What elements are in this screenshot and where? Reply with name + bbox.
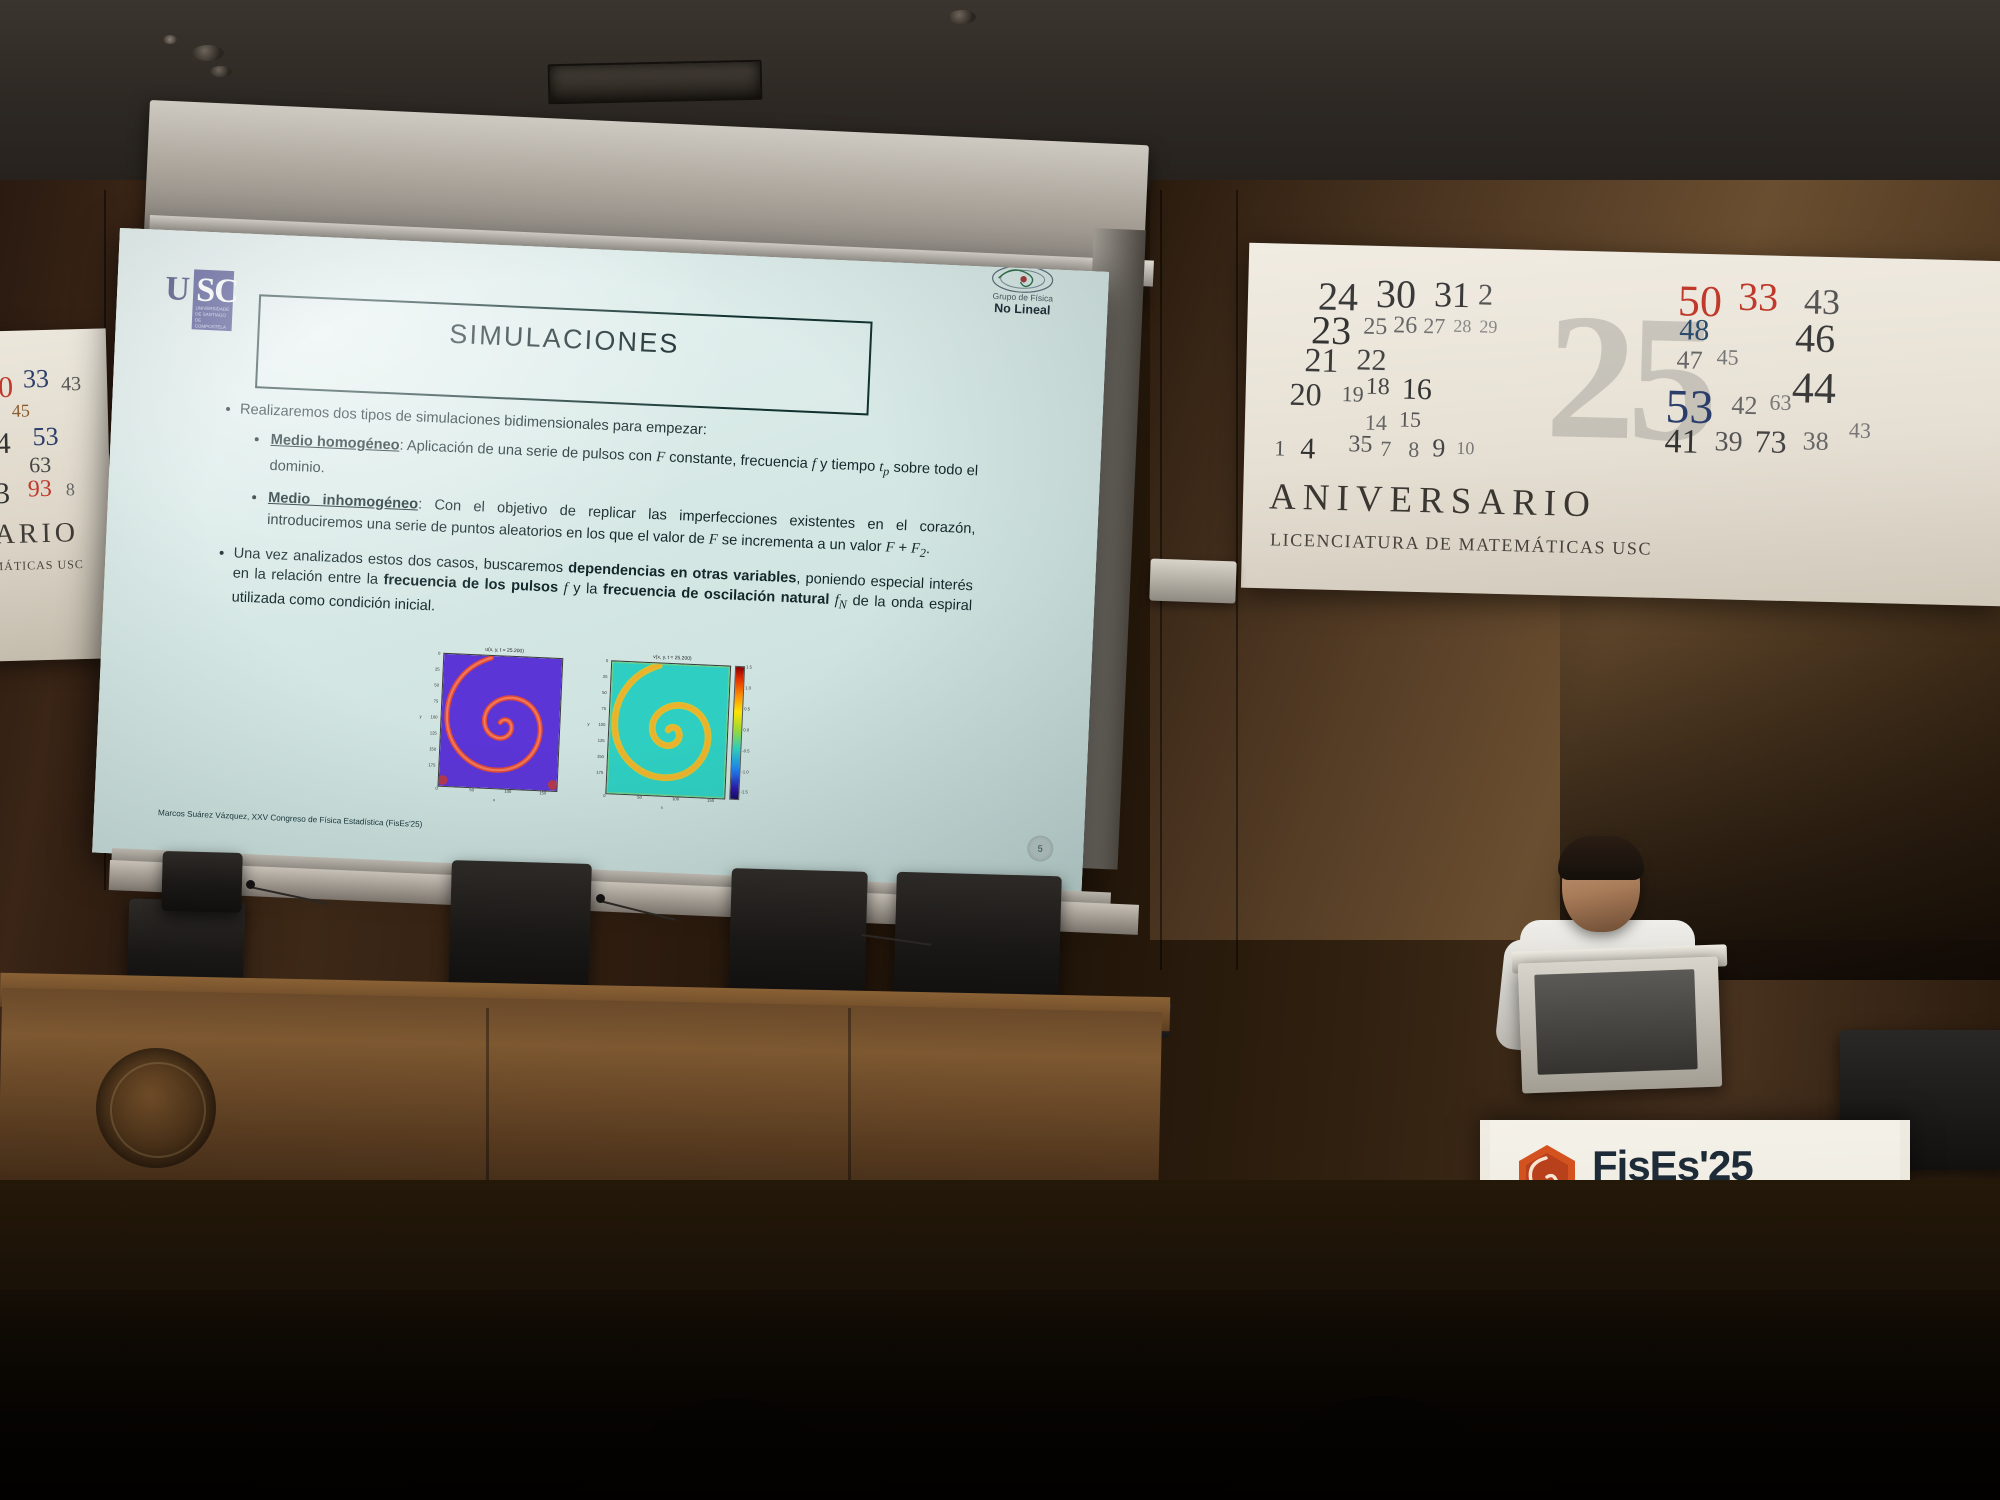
poster-number: 45	[1716, 344, 1739, 371]
poster-number: 27	[1423, 313, 1446, 340]
poster-number: 28	[1453, 316, 1472, 337]
poster-number: 8	[1408, 437, 1420, 463]
poster-number: 2	[1478, 278, 1494, 312]
figure-pair: u(x, y, t = 25.200) 0 25 50 75 100 125 1…	[415, 644, 772, 817]
poster-number: 33	[23, 364, 50, 395]
poster-number: 33	[1738, 273, 1779, 321]
y-tick: 0	[438, 651, 441, 656]
slide-page-number: 5	[1027, 835, 1054, 862]
poster-number: 63	[1769, 390, 1792, 417]
y-tick: 125	[430, 730, 437, 735]
x-axis-label: x	[493, 797, 495, 802]
colorbar-tick: 1.0	[745, 685, 751, 690]
conference-room-photo: 50 33 43 48 45 44 53 41 63 43 93 8 SARIO…	[0, 0, 2000, 1500]
poster-number: 8	[66, 479, 76, 500]
chair-back	[161, 851, 243, 913]
slide-title: SIMULACIONES	[259, 310, 870, 368]
chair	[728, 868, 868, 1004]
figure-spiral-v: v(x, y, t = 25.200) 0 25 50 75 100 125 1…	[583, 651, 740, 816]
poster-heading: ANIVERSARIO	[1269, 475, 1990, 536]
grupo-fisica-no-lineal-logo: Grupo de Física No Lineal	[963, 262, 1084, 329]
poster-number: 41	[1664, 423, 1699, 462]
y-tick: 175	[428, 762, 435, 767]
poster-number: 35	[1348, 431, 1373, 459]
poster-number: 93	[28, 476, 53, 504]
poster-number: 47	[1676, 345, 1703, 376]
y-tick: 25	[435, 666, 440, 671]
speaker-hair	[1558, 836, 1644, 880]
wall-mounted-projector	[1149, 559, 1236, 604]
x-tick: 50	[469, 787, 474, 792]
slide-body: Realizaremos dos tipos de simulaciones b…	[211, 399, 980, 648]
poster-number: 29	[1479, 316, 1498, 337]
usc-logo: U SC UNIVERSIDADE DE SANTIAGO DE COMPOST…	[164, 268, 235, 331]
foreground-shadow	[0, 1290, 2000, 1500]
slide-title-box: SIMULACIONES	[255, 294, 873, 415]
poster-number: 10	[1456, 438, 1475, 459]
poster-number: 7	[1380, 436, 1392, 462]
poster-number: 19	[1341, 381, 1364, 408]
poster-number: 48	[1679, 313, 1710, 348]
lectern-monitor	[1534, 969, 1697, 1075]
y-tick: 0	[606, 658, 609, 663]
poster-number: 16	[1401, 373, 1432, 408]
y-axis-label: y	[419, 714, 421, 719]
poster-number: 30	[1376, 270, 1417, 318]
x-tick: 150	[707, 798, 714, 803]
spiral-wave-plot	[439, 654, 563, 791]
ceiling-vent	[548, 60, 763, 104]
x-tick: 0	[435, 786, 438, 791]
poster-number: 73	[1754, 423, 1787, 461]
colorbar	[729, 666, 745, 800]
y-tick: 100	[598, 722, 605, 727]
colorbar-tick: 1.5	[746, 664, 752, 669]
x-tick: 100	[504, 789, 511, 794]
poster-number: 53	[32, 422, 59, 453]
microphone	[246, 880, 255, 889]
poster-number: 25	[1363, 314, 1388, 342]
y-tick: 75	[601, 706, 606, 711]
colorbar-tick: 0.5	[744, 706, 750, 711]
poster-number: 18	[1366, 374, 1391, 402]
y-tick: 150	[597, 754, 604, 759]
figure-plot-area	[605, 660, 731, 799]
ceiling-light	[210, 66, 232, 77]
x-tick: 100	[672, 796, 679, 801]
colorbar-tick: -1.0	[741, 769, 748, 774]
poster-number: 15	[1399, 406, 1422, 433]
poster-number: 44	[1791, 362, 1836, 414]
bullet-dot	[220, 551, 224, 555]
poster-number: 63	[29, 452, 52, 479]
bullet-dot	[252, 495, 256, 499]
presentation-slide: U SC UNIVERSIDADE DE SANTIAGO DE COMPOST…	[92, 228, 1109, 896]
chair	[893, 872, 1062, 1009]
wall-seam	[1236, 190, 1238, 970]
colorbar-tick: 0.0	[743, 727, 749, 732]
university-seal	[96, 1048, 216, 1168]
ceiling-light	[948, 10, 976, 24]
usc-logo-subtitle: UNIVERSIDADE DE SANTIAGO DE COMPOSTELA	[195, 305, 232, 331]
wall-poster-left: 50 33 43 48 45 44 53 41 63 43 93 8 SARIO…	[0, 328, 114, 661]
poster-number: 4	[1300, 432, 1316, 466]
usc-logo-u: U	[164, 270, 189, 309]
y-tick: 50	[602, 690, 607, 695]
y-tick: 175	[596, 770, 603, 775]
chair	[448, 860, 592, 999]
microphone	[596, 894, 605, 903]
y-tick: 150	[429, 746, 436, 751]
ceiling-light	[163, 35, 177, 44]
poster-number: 43	[61, 373, 82, 397]
wall-poster-anniversary: 25 24 30 31 2 23 25 26 27 28 29 21 22 20…	[1241, 243, 2000, 606]
poster-number: 20	[1289, 376, 1322, 414]
y-tick: 25	[603, 674, 608, 679]
seal-ring	[110, 1062, 206, 1158]
y-tick: 75	[433, 698, 438, 703]
x-tick: 50	[637, 795, 642, 800]
poster-number: 21	[1304, 342, 1339, 381]
x-tick: 150	[539, 790, 546, 795]
figure-plot-area	[437, 653, 563, 792]
y-tick: 50	[434, 682, 439, 687]
poster-number: 38	[1802, 426, 1829, 457]
spiral-wave-plot	[606, 661, 730, 798]
poster-heading: SARIO	[0, 517, 79, 552]
slide-footer: Marcos Suárez Vázquez, XXV Congreso de F…	[158, 808, 423, 829]
poster-subheading: LICENCIATURA DE MATEMÁTICAS USC	[1270, 529, 1990, 568]
poster-subheading: TEMÁTICAS USC	[0, 557, 84, 575]
poster-number: 1	[1274, 435, 1286, 461]
poster-number: 46	[1795, 314, 1836, 362]
poster-number: 31	[1434, 273, 1471, 316]
table-seam	[486, 1008, 489, 1208]
colorbar-tick: -1.5	[740, 789, 747, 794]
poster-number: 43	[1849, 417, 1872, 444]
poster-number: 39	[1714, 426, 1743, 459]
poster-number: 42	[1731, 391, 1758, 422]
poster-number: 9	[1432, 433, 1446, 463]
poster-number: 26	[1393, 312, 1418, 340]
poster-number: 44	[0, 427, 11, 462]
bullet-lead: Medio inhomogéneo	[268, 490, 419, 513]
y-tick: 125	[598, 738, 605, 743]
projection-screen: U SC UNIVERSIDADE DE SANTIAGO DE COMPOST…	[92, 228, 1109, 896]
y-tick: 100	[430, 714, 437, 719]
figure-spiral-u: u(x, y, t = 25.200) 0 25 50 75 100 125 1…	[415, 644, 572, 809]
ceiling-light	[192, 45, 224, 61]
y-axis-label: y	[587, 721, 589, 726]
table-seam	[848, 1008, 851, 1208]
bullet-lead: Medio homogéneo	[270, 432, 400, 454]
poster-number: 43	[0, 477, 10, 512]
x-axis-label: x	[661, 805, 663, 810]
bullet-dot	[226, 407, 230, 411]
colorbar-tick: -0.5	[742, 748, 749, 753]
x-tick: 0	[603, 793, 606, 798]
poster-number: 45	[12, 400, 31, 421]
bullet-dot	[255, 437, 259, 441]
